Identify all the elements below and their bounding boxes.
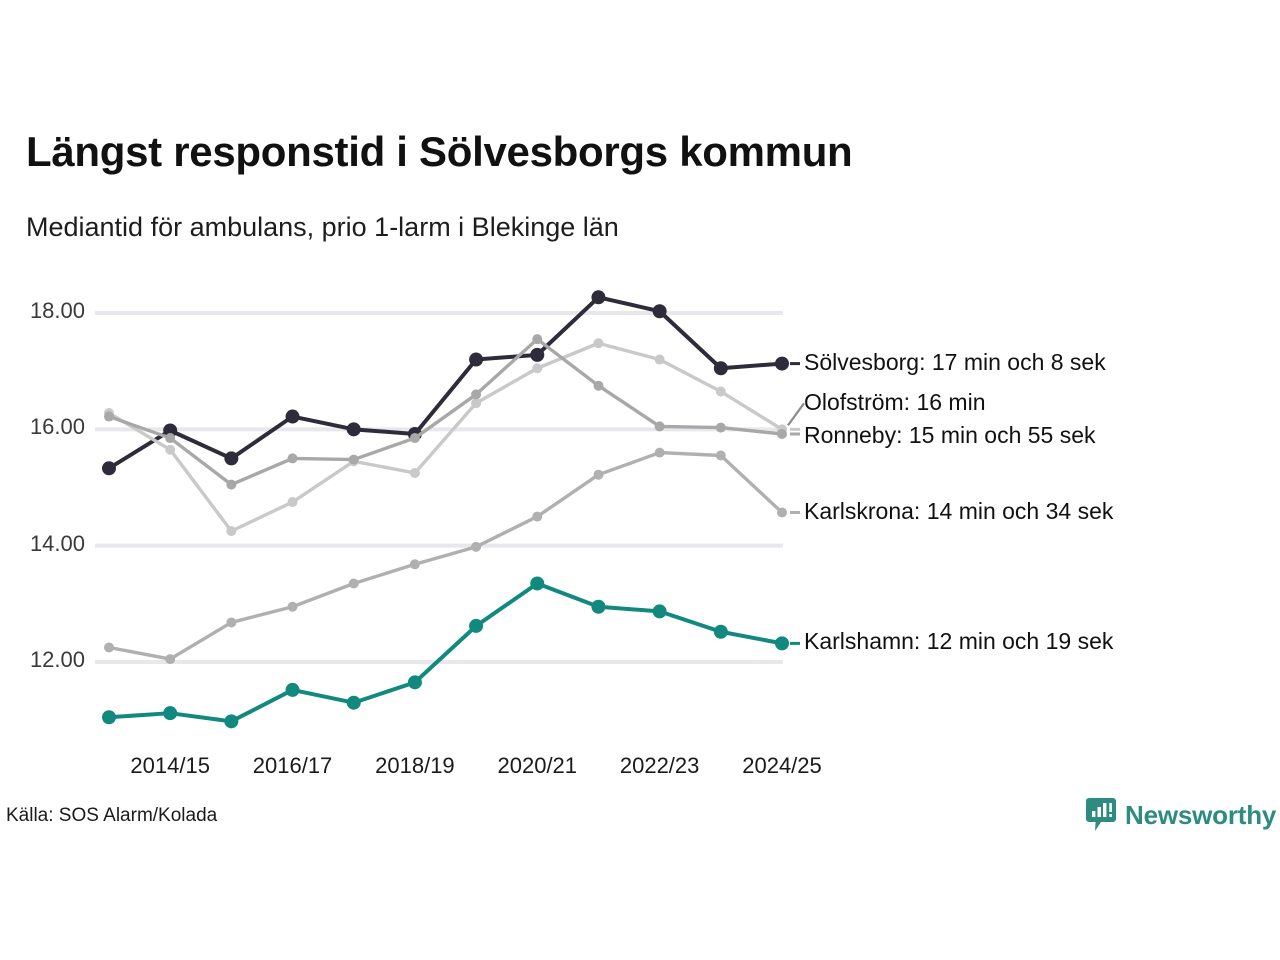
- x-axis-tick-label: 2014/15: [100, 753, 240, 779]
- data-point: [655, 355, 665, 365]
- data-point: [775, 636, 789, 650]
- y-axis-tick-label: 16.00: [0, 414, 85, 440]
- data-point: [165, 654, 175, 664]
- data-point: [286, 683, 300, 697]
- data-point: [593, 338, 603, 348]
- series-karlskrona: [104, 448, 787, 664]
- data-point: [349, 578, 359, 588]
- data-point: [226, 526, 236, 536]
- data-point: [716, 423, 726, 433]
- source-note: Källa: SOS Alarm/Kolada: [6, 805, 217, 827]
- data-point: [655, 448, 665, 458]
- x-axis-tick-label: 2020/21: [467, 753, 607, 779]
- label-connectors: [788, 364, 804, 644]
- data-point: [102, 710, 116, 724]
- data-point: [714, 361, 728, 375]
- data-point: [286, 410, 300, 424]
- data-point: [349, 455, 359, 465]
- y-axis-tick-label: 14.00: [0, 531, 85, 557]
- x-axis-tick-label: 2022/23: [590, 753, 730, 779]
- data-point: [165, 445, 175, 455]
- data-point: [408, 675, 422, 689]
- data-point: [532, 334, 542, 344]
- y-axis-tick-label: 18.00: [0, 298, 85, 324]
- data-point: [288, 453, 298, 463]
- data-point: [471, 389, 481, 399]
- x-axis-tick-label: 2018/19: [345, 753, 485, 779]
- data-point: [347, 422, 361, 436]
- data-point: [469, 353, 483, 367]
- series-end-label-karlshamn: Karlshamn: 12 min och 19 sek: [804, 628, 1113, 655]
- series-olofström: [104, 338, 787, 536]
- data-point: [655, 421, 665, 431]
- data-point: [102, 461, 116, 475]
- newsworthy-logo: Newsworthy: [1086, 798, 1276, 832]
- data-point: [163, 706, 177, 720]
- data-point: [288, 497, 298, 507]
- data-point: [593, 470, 603, 480]
- logo-wordmark: Newsworthy: [1125, 800, 1276, 831]
- data-point: [226, 480, 236, 490]
- data-point: [591, 600, 605, 614]
- data-point: [471, 542, 481, 552]
- data-point: [653, 304, 667, 318]
- series-end-label-sölvesborg: Sölvesborg: 17 min och 8 sek: [804, 349, 1106, 376]
- data-point: [775, 357, 789, 371]
- data-point: [104, 412, 114, 422]
- x-axis-tick-label: 2024/25: [712, 753, 852, 779]
- series-sölvesborg: [102, 290, 789, 475]
- data-point: [410, 468, 420, 478]
- data-point: [347, 696, 361, 710]
- data-point: [226, 617, 236, 627]
- series-end-label-ronneby: Ronneby: 15 min och 55 sek: [804, 422, 1096, 449]
- data-point: [410, 559, 420, 569]
- data-point: [165, 433, 175, 443]
- bar-chart-bubble-icon: [1086, 798, 1116, 832]
- data-point: [716, 387, 726, 397]
- data-point: [593, 381, 603, 391]
- data-point: [532, 363, 542, 373]
- data-point: [714, 625, 728, 639]
- data-point: [777, 429, 787, 439]
- series-karlshamn: [102, 576, 789, 728]
- data-point: [469, 619, 483, 633]
- series-end-label-karlskrona: Karlskrona: 14 min och 34 sek: [804, 498, 1113, 525]
- data-point: [530, 348, 544, 362]
- data-point: [653, 604, 667, 618]
- series-end-label-olofström: Olofström: 16 min: [804, 389, 986, 416]
- data-point: [716, 451, 726, 461]
- x-axis-tick-label: 2016/17: [223, 753, 363, 779]
- data-point: [410, 433, 420, 443]
- data-point: [591, 290, 605, 304]
- data-point: [777, 508, 787, 518]
- data-point: [224, 714, 238, 728]
- data-point: [104, 642, 114, 652]
- data-point: [530, 576, 544, 590]
- data-point: [288, 602, 298, 612]
- data-point: [532, 512, 542, 522]
- chart-root: Längst responstid i Sölvesborgs kommun M…: [0, 0, 1280, 960]
- data-point: [471, 398, 481, 408]
- series-ronneby: [104, 334, 787, 489]
- data-point: [224, 451, 238, 465]
- y-axis-tick-label: 12.00: [0, 647, 85, 673]
